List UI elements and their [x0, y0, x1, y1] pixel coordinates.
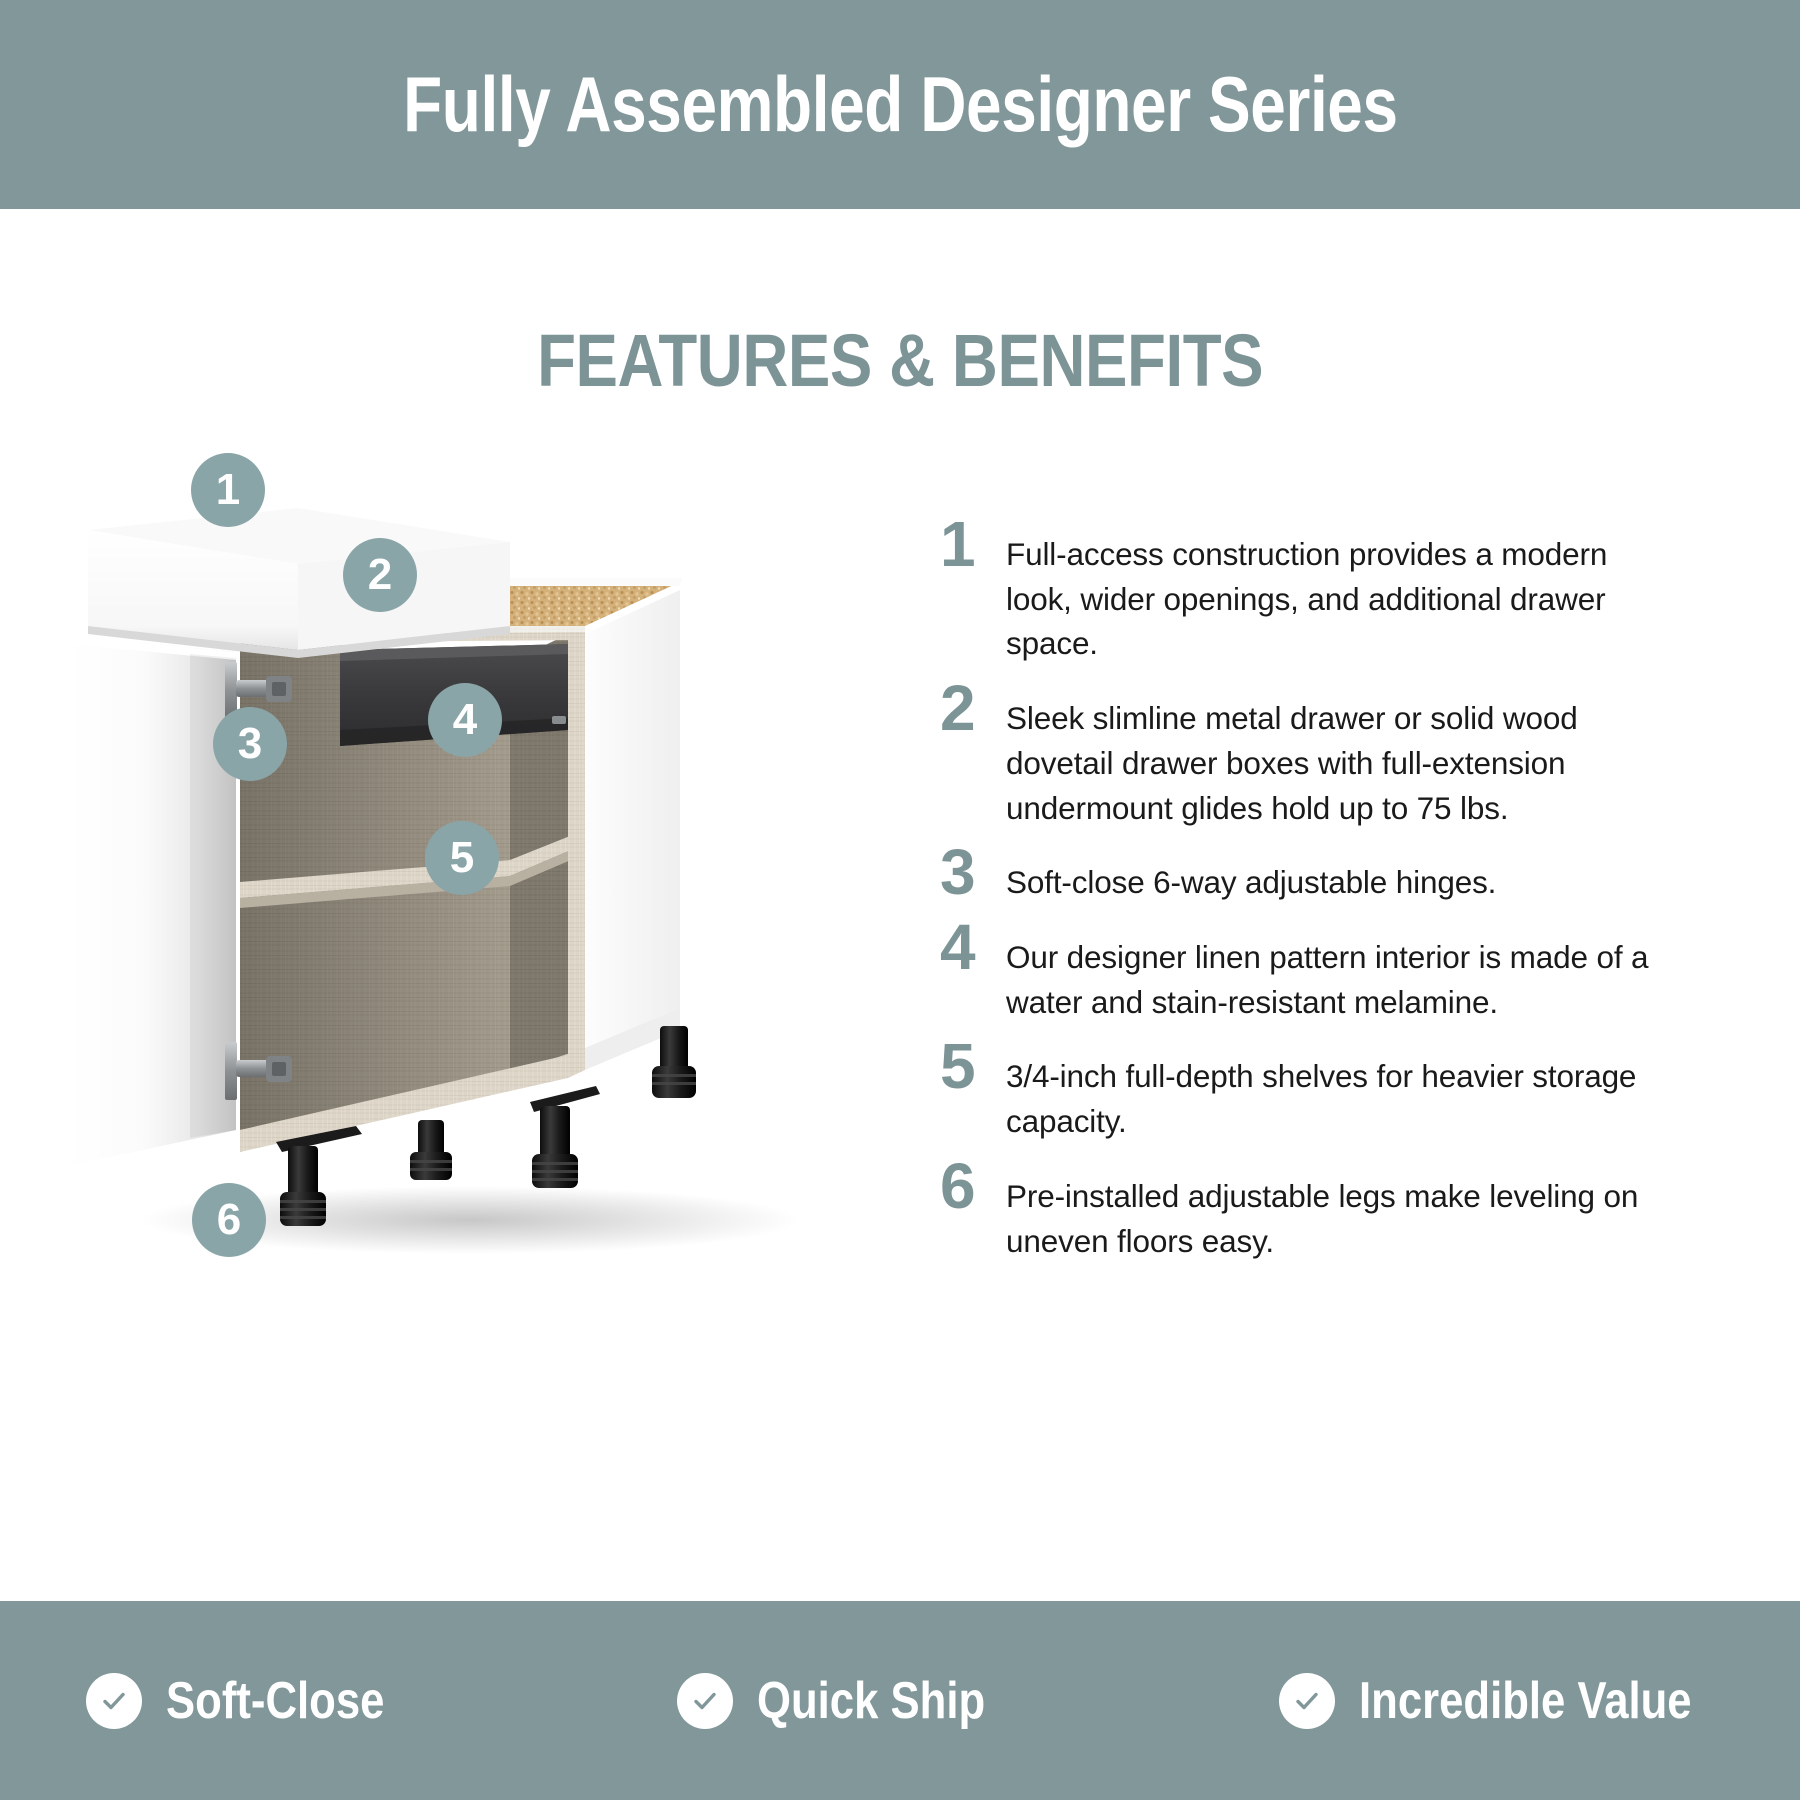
- header-bar: Fully Assembled Designer Series: [0, 0, 1800, 209]
- adjustable-leg: [410, 1120, 452, 1180]
- feature-number-2: 2: [940, 682, 1006, 736]
- footer-bar: Soft-Close Quick Ship Incredible Value: [0, 1601, 1800, 1800]
- callout-badge-2[interactable]: 2: [343, 538, 417, 612]
- callout-badge-5[interactable]: 5: [425, 821, 499, 895]
- footer-badge-quick-ship: Quick Ship: [607, 1671, 1198, 1731]
- cabinet-side-panel: [585, 582, 680, 1048]
- footer-label-incredible-value: Incredible Value: [1359, 1671, 1692, 1731]
- feature-text-3: Soft-close 6-way adjustable hinges.: [1006, 852, 1680, 905]
- footer-label-quick-ship: Quick Ship: [757, 1671, 985, 1731]
- feature-text-5: 3/4-inch full-depth shelves for heavier …: [1006, 1046, 1680, 1143]
- feature-number-5: 5: [940, 1040, 1006, 1094]
- callout-badge-1[interactable]: 1: [191, 453, 265, 527]
- callout-badge-4[interactable]: 4: [428, 683, 502, 757]
- feature-number-6: 6: [940, 1160, 1006, 1214]
- footer-badge-incredible-value: Incredible Value: [1199, 1671, 1800, 1731]
- page-title: Fully Assembled Designer Series: [403, 59, 1397, 150]
- check-circle-icon: [1279, 1673, 1335, 1729]
- section-heading-label: FEATURES & BENEFITS: [537, 318, 1263, 403]
- drawer-front: [88, 508, 510, 658]
- callout-badge-3[interactable]: 3: [213, 707, 287, 781]
- feature-item-4: 4 Our designer linen pattern interior is…: [940, 927, 1680, 1024]
- features-list: 1 Full-access construction provides a mo…: [940, 524, 1680, 1285]
- adjustable-leg: [530, 1086, 600, 1188]
- feature-item-5: 5 3/4-inch full-depth shelves for heavie…: [940, 1046, 1680, 1143]
- feature-number-1: 1: [940, 518, 1006, 572]
- feature-item-3: 3 Soft-close 6-way adjustable hinges.: [940, 852, 1680, 905]
- feature-text-4: Our designer linen pattern interior is m…: [1006, 927, 1680, 1024]
- section-heading: FEATURES & BENEFITS: [0, 318, 1800, 403]
- check-circle-icon: [677, 1673, 733, 1729]
- cabinet-front-stile: [568, 626, 585, 1055]
- feature-number-3: 3: [940, 846, 1006, 900]
- feature-number-4: 4: [940, 921, 1006, 975]
- feature-item-2: 2 Sleek slimline metal drawer or solid w…: [940, 688, 1680, 830]
- feature-text-1: Full-access construction provides a mode…: [1006, 524, 1680, 666]
- feature-item-6: 6 Pre-installed adjustable legs make lev…: [940, 1166, 1680, 1263]
- footer-label-soft-close: Soft-Close: [166, 1671, 384, 1731]
- feature-text-2: Sleek slimline metal drawer or solid woo…: [1006, 688, 1680, 830]
- feature-text-6: Pre-installed adjustable legs make level…: [1006, 1166, 1680, 1263]
- footer-badge-soft-close: Soft-Close: [0, 1671, 607, 1731]
- check-circle-icon: [86, 1673, 142, 1729]
- cabinet-door: [62, 636, 236, 1166]
- feature-item-1: 1 Full-access construction provides a mo…: [940, 524, 1680, 666]
- callout-badge-6[interactable]: 6: [192, 1183, 266, 1257]
